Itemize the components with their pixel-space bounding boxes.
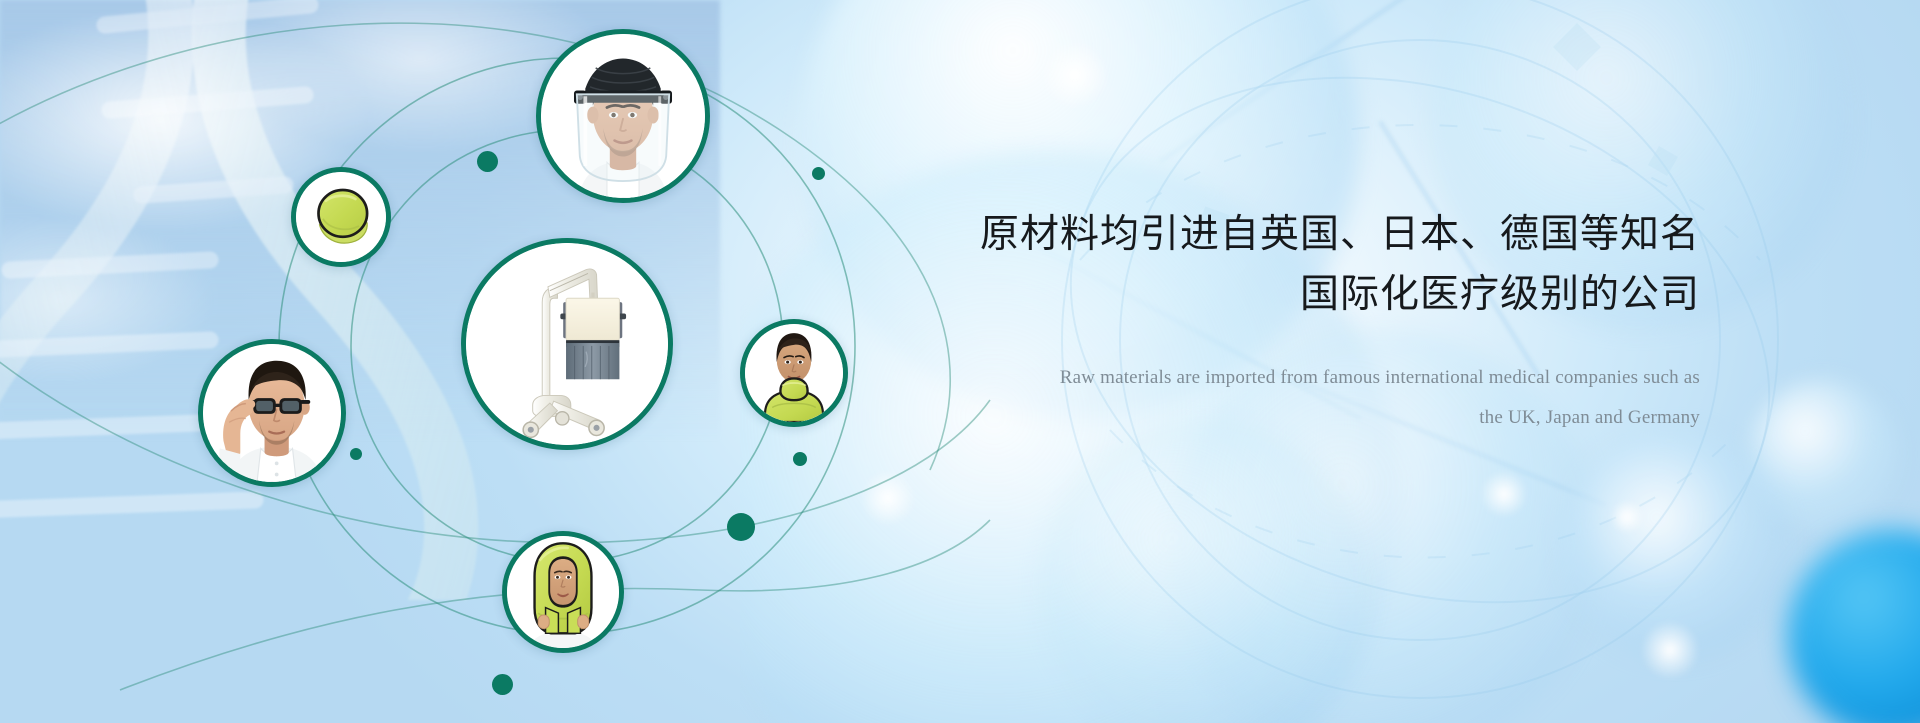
- radiation-protection-cap-icon: [296, 172, 386, 262]
- subtitle-line-2: the UK, Japan and Germany: [900, 398, 1700, 438]
- mobile-radiation-shield-icon: [466, 243, 668, 445]
- accent-dot: [727, 513, 755, 541]
- headline-line-2: 国际化医疗级别的公司: [900, 266, 1700, 324]
- woman-wearing-radiation-hood-icon: [507, 536, 619, 648]
- bubble-protection-hood[interactable]: [502, 531, 624, 653]
- bubble-mobile-radiation-shield[interactable]: [461, 238, 673, 450]
- accent-dot: [350, 448, 362, 460]
- accent-dot: [793, 452, 807, 466]
- bubble-thyroid-collar[interactable]: [740, 319, 848, 427]
- bubble-protection-cap[interactable]: [291, 167, 391, 267]
- promo-banner: 原材料均引进自英国、日本、德国等知名 国际化医疗级别的公司 Raw materi…: [0, 0, 1920, 723]
- accent-dot: [492, 674, 513, 695]
- accent-dot: [812, 167, 825, 180]
- subtitle-line-1: Raw materials are imported from famous i…: [1060, 367, 1700, 388]
- subtitle-block: Raw materials are imported from famous i…: [900, 358, 1700, 438]
- accent-dot: [477, 151, 498, 172]
- bubble-face-shield[interactable]: [536, 29, 710, 203]
- woman-wearing-thyroid-collar-icon: [745, 324, 843, 422]
- headline-line-1: 原材料均引进自英国、日本、德国等知名: [900, 206, 1700, 264]
- copy-block: 原材料均引进自英国、日本、德国等知名 国际化医疗级别的公司 Raw materi…: [900, 206, 1700, 438]
- bubble-lead-glasses[interactable]: [198, 339, 346, 487]
- man-wearing-lead-glasses-icon: [203, 344, 341, 482]
- man-wearing-face-shield-icon: [541, 34, 705, 198]
